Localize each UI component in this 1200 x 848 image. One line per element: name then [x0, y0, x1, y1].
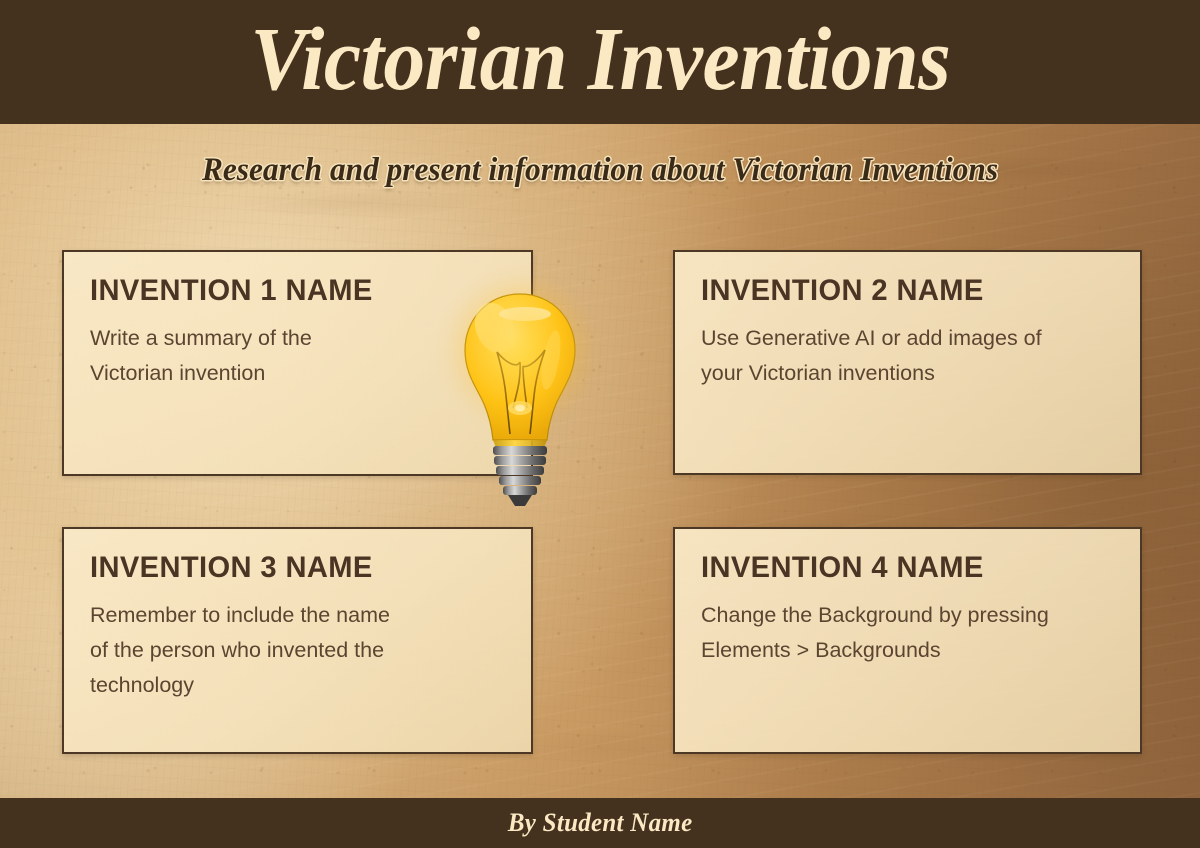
- invention-card-1-title: INVENTION 1 NAME: [90, 274, 493, 307]
- page-title: Victorian Inventions: [250, 15, 950, 105]
- page-subtitle: Research and present information about V…: [202, 152, 998, 190]
- invention-card-4-title: INVENTION 4 NAME: [701, 551, 1102, 584]
- subtitle-container: Research and present information about V…: [0, 152, 1200, 190]
- invention-card-3-body: Remember to include the name of the pers…: [90, 598, 505, 702]
- invention-card-4[interactable]: INVENTION 4 NAME Change the Background b…: [673, 527, 1142, 754]
- invention-card-2-body: Use Generative AI or add images of your …: [701, 321, 1114, 391]
- invention-card-1[interactable]: INVENTION 1 NAME Write a summary of the …: [62, 250, 533, 476]
- invention-card-3[interactable]: INVENTION 3 NAME Remember to include the…: [62, 527, 533, 754]
- invention-card-3-title: INVENTION 3 NAME: [90, 551, 493, 584]
- header-bar: Victorian Inventions: [0, 0, 1200, 124]
- footer-bar: By Student Name: [0, 798, 1200, 848]
- invention-card-1-body: Write a summary of the Victorian inventi…: [90, 321, 505, 391]
- invention-card-2[interactable]: INVENTION 2 NAME Use Generative AI or ad…: [673, 250, 1142, 475]
- author-credit: By Student Name: [508, 808, 693, 838]
- poster-canvas: Victorian Inventions Research and presen…: [0, 0, 1200, 848]
- invention-card-2-title: INVENTION 2 NAME: [701, 274, 1102, 307]
- invention-card-4-body: Change the Background by pressing Elemen…: [701, 598, 1114, 668]
